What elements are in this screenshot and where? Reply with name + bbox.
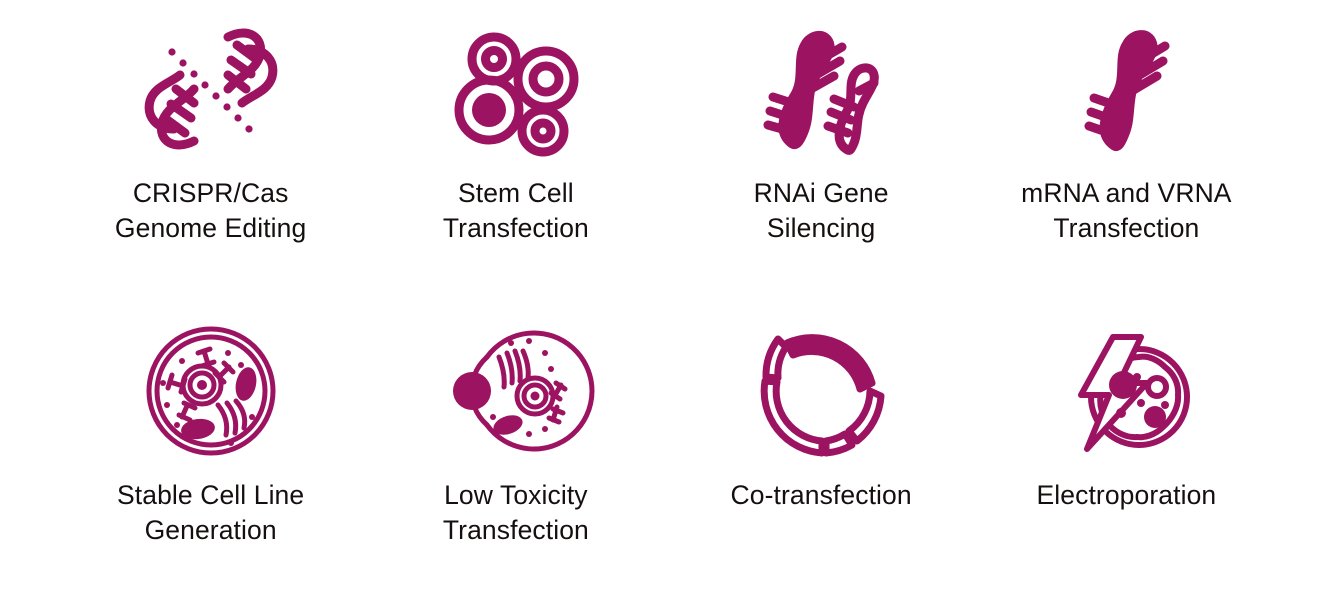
stem-cells-icon [436,14,596,164]
feature-card-rnai-gene-silencing[interactable]: RNAi Gene Silencing [669,14,974,246]
feature-grid: CRISPR/Cas Genome Editing Stem Cell Tran… [0,0,1337,614]
feature-card-stable-cell-line-generation[interactable]: Stable Cell Line Generation [58,314,363,548]
feature-label: RNAi Gene Silencing [754,176,889,246]
feature-label: mRNA and VRNA Transfection [1021,176,1231,246]
feature-label: CRISPR/Cas Genome Editing [115,176,306,246]
single-rna-strand-icon [1046,14,1206,164]
feature-label: Low Toxicity Transfection [443,478,589,548]
plasmid-ring-icon [741,316,901,466]
feature-label: Co-transfection [731,478,912,513]
double-rna-strand-icon [741,14,901,164]
cell-with-chromosomes-icon [131,316,291,466]
feature-card-crispr-cas-genome-editing[interactable]: CRISPR/Cas Genome Editing [58,14,363,246]
feature-label: Stem Cell Transfection [443,176,589,246]
feature-card-co-transfection[interactable]: Co-transfection [669,314,974,513]
feature-card-mrna-and-vrna-transfection[interactable]: mRNA and VRNA Transfection [974,14,1279,246]
lightning-bolt-cell-icon [1046,316,1206,466]
dna-helix-cut-icon [131,14,291,164]
feature-label: Electroporation [1037,478,1217,513]
cell-with-particle-icon [436,316,596,466]
feature-label: Stable Cell Line Generation [117,478,304,548]
feature-card-low-toxicity-transfection[interactable]: Low Toxicity Transfection [363,314,668,548]
feature-card-stem-cell-transfection[interactable]: Stem Cell Transfection [363,14,668,246]
feature-card-electroporation[interactable]: Electroporation [974,314,1279,513]
